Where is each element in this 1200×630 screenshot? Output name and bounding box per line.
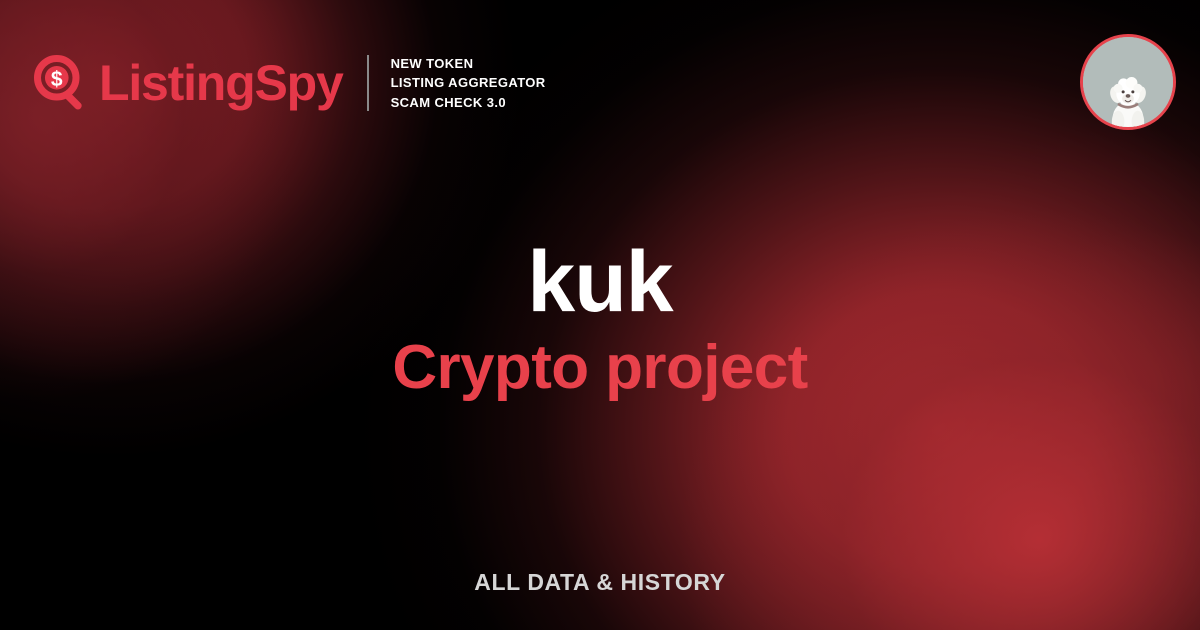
svg-text:$: $ <box>51 68 63 91</box>
footer: ALL DATA & HISTORY <box>0 569 1200 596</box>
tagline-line-3: SCAM CHECK 3.0 <box>391 94 546 111</box>
brand-wordmark: ListingSpy <box>99 58 343 108</box>
share-card: $ ListingSpy NEW TOKEN LISTING AGGREGATO… <box>0 0 1200 630</box>
header-divider <box>367 55 369 111</box>
brand-tagline: NEW TOKEN LISTING AGGREGATOR SCAM CHECK … <box>391 55 546 110</box>
magnifier-dollar-icon: $ <box>34 55 90 111</box>
dog-avatar-icon <box>1083 37 1173 127</box>
page-title: kuk <box>0 238 1200 327</box>
avatar[interactable] <box>1080 34 1176 130</box>
tagline-line-1: NEW TOKEN <box>391 55 546 72</box>
project-headline: kuk Crypto project <box>0 238 1200 403</box>
brand-header[interactable]: $ ListingSpy NEW TOKEN LISTING AGGREGATO… <box>34 55 546 111</box>
page-subtitle: Crypto project <box>0 333 1200 402</box>
tagline-line-2: LISTING AGGREGATOR <box>391 74 546 91</box>
brand-wordmark-listing: Listing <box>99 55 254 111</box>
brand-wordmark-spy: Spy <box>254 55 342 111</box>
footer-text: ALL DATA & HISTORY <box>474 569 725 595</box>
